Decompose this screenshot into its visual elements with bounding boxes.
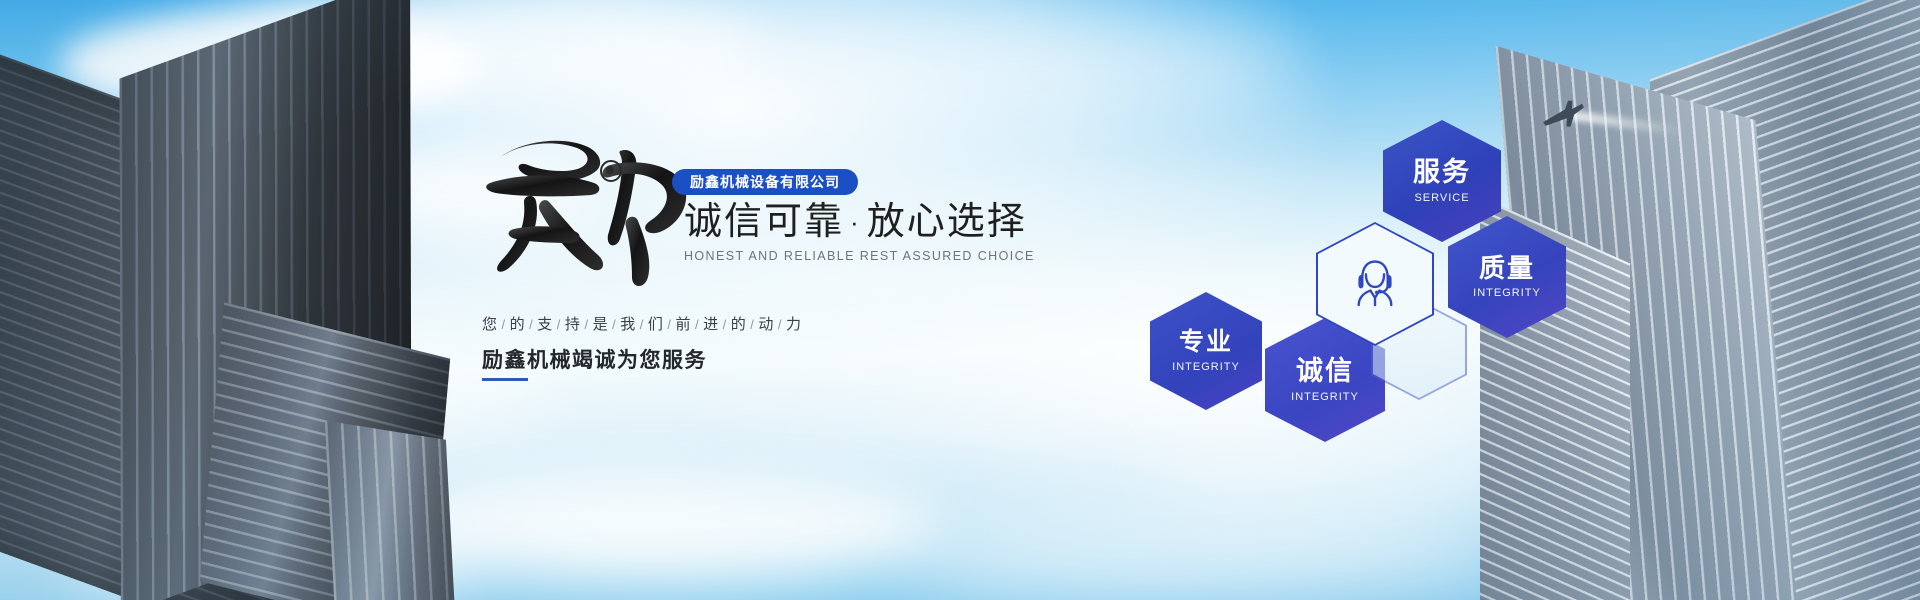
hexagon-operator-frame xyxy=(1316,222,1434,346)
subtext-bold-line: 励鑫机械竭诚为您服务 xyxy=(482,344,802,374)
promo-banner: 励鑫机械设备有限公司 诚信可靠·放心选择 HONEST AND RELIABLE… xyxy=(0,0,1920,600)
subtext-char: 力 xyxy=(786,316,802,333)
subtext-char-separator: / xyxy=(580,317,592,332)
hexagon-subtitle: INTEGRITY xyxy=(1172,361,1240,373)
subtext-char: 进 xyxy=(703,316,719,333)
headset-operator-icon xyxy=(1346,253,1404,316)
subtext-char-separator: / xyxy=(636,317,648,332)
company-name-badge: 励鑫机械设备有限公司 xyxy=(672,169,858,195)
subtext-char-separator: / xyxy=(553,317,565,332)
subtext-char: 您 xyxy=(482,316,498,333)
slogan-chinese-right: 放心选择 xyxy=(867,201,1027,243)
subtext-char: 是 xyxy=(593,316,609,333)
slogan-chinese-left: 诚信可靠 xyxy=(684,201,844,243)
subtext-char: 前 xyxy=(675,316,691,333)
hexagon-badge-professional: 专业 INTEGRITY xyxy=(1150,292,1262,410)
cloud-decoration xyxy=(700,20,1300,110)
subtext-block: 您/的/支/持/是/我/们/前/进/的/动/力 励鑫机械竭诚为您服务 xyxy=(482,313,802,374)
subtext-char-separator: / xyxy=(525,317,537,332)
subtext-char-separator: / xyxy=(746,317,758,332)
hexagon-title: 服务 xyxy=(1413,159,1471,186)
wordart-shili xyxy=(470,125,700,305)
cloud-decoration xyxy=(900,500,1520,600)
slogan-chinese: 诚信可靠·放心选择 xyxy=(684,200,1104,246)
subtext-char-separator: / xyxy=(774,317,786,332)
subtext-char: 支 xyxy=(537,316,553,333)
slogan-separator: · xyxy=(844,207,867,237)
hexagon-subtitle: INTEGRITY xyxy=(1291,391,1359,403)
hexagon-subtitle: SERVICE xyxy=(1414,192,1469,204)
subtext-char: 们 xyxy=(648,316,664,333)
slogan-block: 诚信可靠·放心选择 HONEST AND RELIABLE REST ASSUR… xyxy=(684,200,1104,263)
subtext-char-separator: / xyxy=(719,317,731,332)
registered-dot-icon xyxy=(600,160,622,182)
subtext-char: 的 xyxy=(731,316,747,333)
subtext-char-separator: / xyxy=(691,317,703,332)
hexagon-title: 专业 xyxy=(1179,330,1233,355)
subtext-spaced-line: 您/的/支/持/是/我/们/前/进/的/动/力 xyxy=(482,313,802,334)
hexagon-subtitle: INTEGRITY xyxy=(1473,287,1541,299)
subtext-char: 持 xyxy=(565,316,581,333)
subtext-char-separator: / xyxy=(498,317,510,332)
subtext-char-separator: / xyxy=(608,317,620,332)
building-small xyxy=(325,421,456,600)
hexagon-title: 质量 xyxy=(1479,255,1535,281)
airplane-icon xyxy=(1540,100,1586,130)
subtext-char: 动 xyxy=(758,316,774,333)
subtext-char: 我 xyxy=(620,316,636,333)
slogan-english: HONEST AND RELIABLE REST ASSURED CHOICE xyxy=(684,249,1104,263)
hexagon-title: 诚信 xyxy=(1296,358,1354,385)
subtext-char: 的 xyxy=(510,316,526,333)
subtext-char-separator: / xyxy=(663,317,675,332)
accent-rule xyxy=(482,378,528,381)
